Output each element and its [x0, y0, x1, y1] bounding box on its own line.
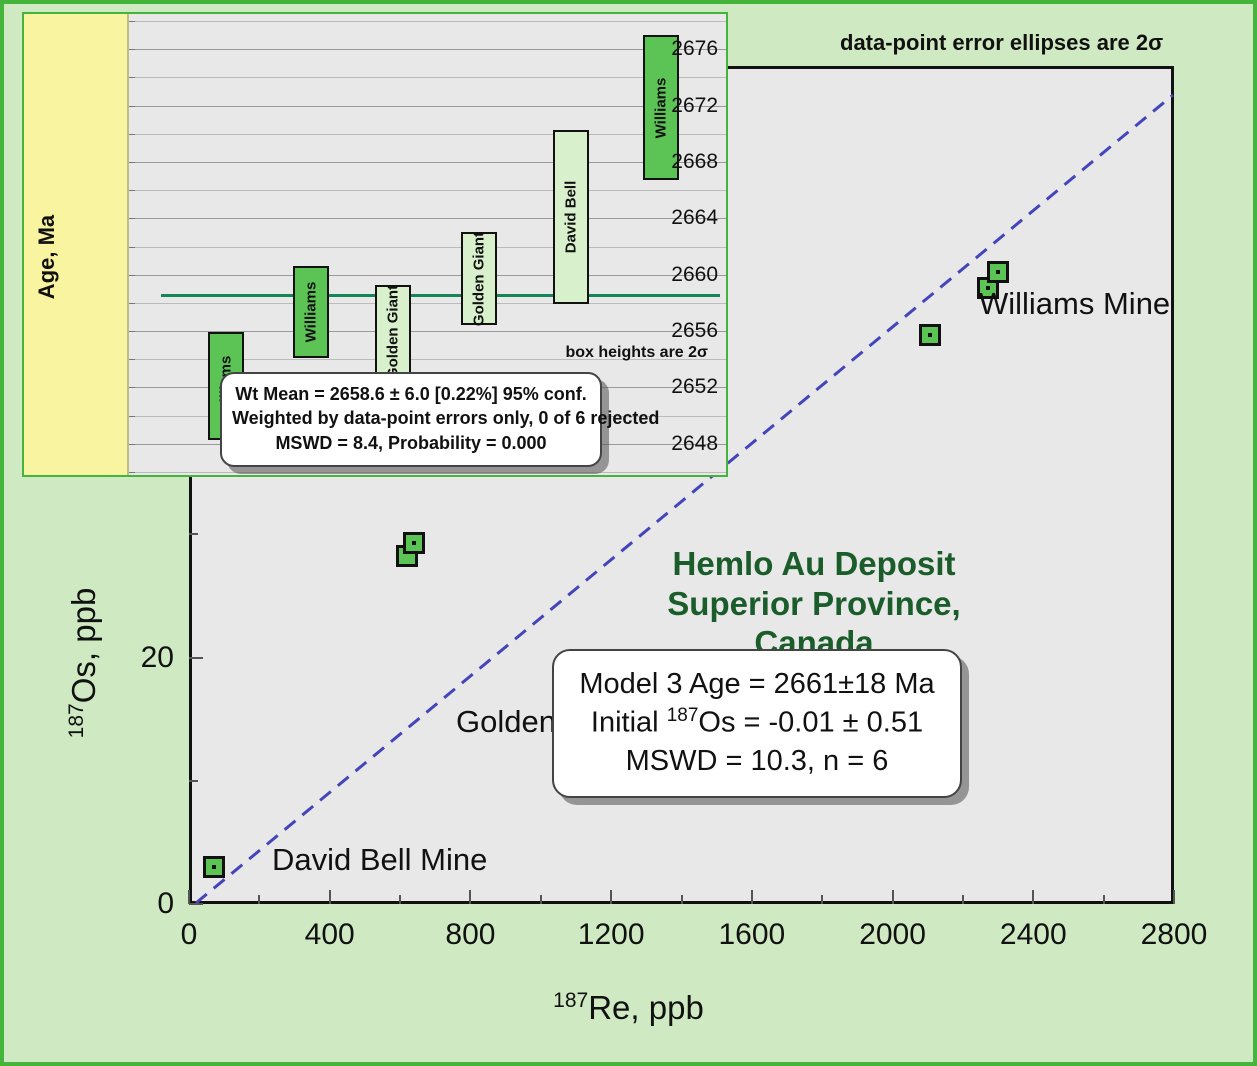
x-axis-title-superscript: 187: [553, 989, 588, 1012]
inset-y-tick-label: 2652: [671, 375, 718, 399]
x-axis-tick-label: 2400: [1000, 918, 1067, 952]
wtmean-line3: MSWD = 8.4, Probability = 0.000: [232, 431, 590, 455]
inset-y-tick-mark: [129, 77, 135, 78]
inset-y-tick-mark: [129, 331, 135, 332]
mswd-line: MSWD = 10.3, n = 6: [570, 742, 944, 780]
deposit-title-line1: Hemlo Au Deposit: [604, 544, 1024, 584]
inset-age-box: Golden Giant: [461, 232, 497, 325]
inset-age-box: David Bell: [553, 130, 589, 305]
y-axis-major-tick: [189, 657, 203, 659]
data-point: [403, 532, 425, 554]
y-axis-major-tick: [189, 903, 203, 905]
figure-root: data-point error ellipses are 2σ 0400800…: [0, 0, 1257, 1066]
error-ellipse-note: data-point error ellipses are 2σ: [840, 30, 1163, 56]
inset-gridline: [131, 472, 726, 473]
inset-gridline: [131, 21, 726, 22]
wtmean-line2: Weighted by data-point errors only, 0 of…: [232, 406, 590, 430]
inset-y-axis-title: Age, Ma: [34, 172, 60, 342]
inset-y-tick-mark: [129, 106, 135, 107]
x-axis-minor-tick: [1103, 895, 1105, 904]
data-point: [987, 261, 1009, 283]
x-axis-major-tick: [610, 890, 612, 904]
inset-gridline: [131, 162, 726, 163]
initial-os-rest: Os = -0.01 ± 0.51: [698, 707, 923, 739]
inset-y-tick-mark: [129, 416, 135, 417]
x-axis-minor-tick: [962, 895, 964, 904]
inset-age-box: Golden Giant: [375, 285, 411, 379]
x-axis-minor-tick: [258, 895, 260, 904]
x-axis-major-tick: [751, 890, 753, 904]
x-axis-tick-label: 400: [305, 918, 355, 952]
inset-age-box: Williams: [293, 266, 329, 358]
main-plot-left-border: [189, 474, 192, 904]
y-axis-title-superscript: 187: [65, 703, 88, 738]
inset-age-box-label: Williams: [303, 282, 320, 343]
x-axis-minor-tick: [681, 895, 683, 904]
initial-os-superscript: 187: [667, 705, 699, 726]
initial-os-line: Initial 187Os = -0.01 ± 0.51: [570, 703, 944, 742]
x-axis-tick-label: 1200: [578, 918, 645, 952]
inset-y-axis-panel: Age, Ma: [24, 14, 129, 475]
inset-y-tick-mark: [129, 218, 135, 219]
inset-y-tick-mark: [129, 359, 135, 360]
inset-gridline: [131, 218, 726, 219]
inset-gridline: [131, 275, 726, 276]
main-plot-top-border: [729, 66, 1174, 69]
inset-gridline: [131, 77, 726, 78]
data-point: [203, 856, 225, 878]
deposit-title: Hemlo Au Deposit Superior Province, Cana…: [604, 544, 1024, 663]
x-axis-tick-label: 0: [181, 918, 198, 952]
inset-y-tick-label: 2668: [671, 150, 718, 174]
inset-gridline: [131, 190, 726, 191]
y-axis-tick-label: 0: [94, 887, 174, 921]
inset-y-tick-label: 2672: [671, 94, 718, 118]
x-axis-tick-label: 2000: [859, 918, 926, 952]
weighted-mean-line: [161, 294, 720, 297]
inset-age-box-label: Golden Giant: [385, 285, 402, 379]
x-axis-minor-tick: [540, 895, 542, 904]
inset-y-tick-mark: [129, 387, 135, 388]
box-heights-note: box heights are 2σ: [565, 344, 708, 362]
y-axis-title-text: Os, ppb: [65, 588, 102, 704]
label-david-bell: David Bell Mine: [272, 842, 487, 878]
inset-age-box-label: Golden Giant: [471, 232, 488, 326]
x-axis-major-tick: [1032, 890, 1034, 904]
inset-age-box-label: Williams: [653, 77, 670, 138]
inset-gridline: [131, 247, 726, 248]
inset-gridline: [131, 106, 726, 107]
model-age-line: Model 3 Age = 2661±18 Ma: [570, 665, 944, 703]
inset-y-tick-mark: [129, 444, 135, 445]
weighted-mean-results-box: Wt Mean = 2658.6 ± 6.0 [0.22%] 95% conf.…: [220, 372, 602, 467]
inset-gridline: [131, 49, 726, 50]
label-williams: Williams Mine: [979, 286, 1170, 322]
y-axis-title: 187Os, ppb: [65, 513, 103, 813]
x-axis-major-tick: [188, 890, 190, 904]
inset-y-tick-mark: [129, 134, 135, 135]
model-results-box: Model 3 Age = 2661±18 Ma Initial 187Os =…: [552, 649, 962, 798]
data-point: [919, 324, 941, 346]
x-axis-title: 187Re, ppb: [4, 989, 1253, 1027]
x-axis-minor-tick: [399, 895, 401, 904]
x-axis-major-tick: [329, 890, 331, 904]
inset-y-tick-mark: [129, 21, 135, 22]
inset-y-tick-label: 2664: [671, 206, 718, 230]
inset-y-tick-mark: [129, 472, 135, 473]
x-axis-title-text: Re, ppb: [588, 989, 704, 1026]
inset-y-tick-label: 2656: [671, 319, 718, 343]
inset-y-tick-label: 2660: [671, 263, 718, 287]
y-axis-tick-label: 20: [94, 641, 174, 675]
wtmean-line1: Wt Mean = 2658.6 ± 6.0 [0.22%] 95% conf.: [232, 382, 590, 406]
inset-age-box-label: David Bell: [563, 181, 580, 254]
y-axis-minor-tick: [189, 780, 198, 782]
inset-y-tick-label: 2676: [671, 37, 718, 61]
x-axis-tick-label: 1600: [718, 918, 785, 952]
x-axis-minor-tick: [821, 895, 823, 904]
inset-gridline: [131, 134, 726, 135]
inset-y-tick-mark: [129, 275, 135, 276]
initial-os-prefix: Initial: [591, 707, 667, 739]
inset-weighted-mean-chart: Age, Ma WilliamsWilliamsGolden GiantGold…: [22, 12, 728, 477]
x-axis-tick-label: 800: [445, 918, 495, 952]
inset-y-tick-mark: [129, 162, 135, 163]
inset-y-tick-label: 2648: [671, 432, 718, 456]
inset-y-tick-mark: [129, 303, 135, 304]
inset-y-tick-mark: [129, 49, 135, 50]
x-axis-tick-label: 2800: [1141, 918, 1208, 952]
inset-y-tick-mark: [129, 247, 135, 248]
x-axis-major-tick: [469, 890, 471, 904]
y-axis-minor-tick: [189, 533, 198, 535]
inset-y-tick-mark: [129, 190, 135, 191]
inset-gridline: [131, 303, 726, 304]
x-axis-major-tick: [892, 890, 894, 904]
x-axis-major-tick: [1173, 890, 1175, 904]
